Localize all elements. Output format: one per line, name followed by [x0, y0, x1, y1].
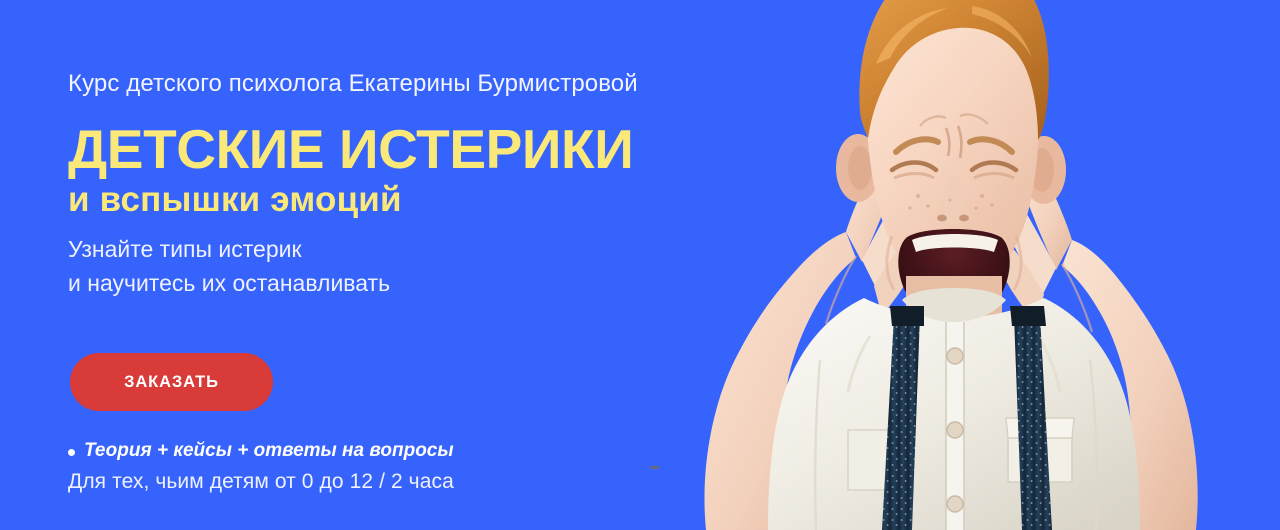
- features-note-label: Теория + кейсы + ответы на вопросы: [84, 440, 454, 462]
- lede-paragraph: Узнайте типы истерик и научитесь их оста…: [68, 232, 390, 300]
- page-title: ДЕТСКИЕ ИСТЕРИКИ: [68, 122, 633, 177]
- lede-line-1: Узнайте типы истерик: [68, 232, 390, 266]
- features-note: Теория + кейсы + ответы на вопросы: [68, 440, 454, 462]
- course-author-line: Курс детского психолога Екатерины Бурмис…: [68, 70, 638, 98]
- hero-photo: [620, 0, 1280, 530]
- bullet-dot-icon: [68, 449, 75, 456]
- order-button[interactable]: ЗАКАЗАТЬ: [70, 353, 273, 411]
- page-subtitle: и вспышки эмоций: [68, 182, 402, 217]
- audience-note: Для тех, чьим детям от 0 до 12 / 2 часа: [68, 470, 454, 494]
- promo-banner: Курс детского психолога Екатерины Бурмис…: [0, 0, 1280, 530]
- lede-line-2: и научитесь их останавливать: [68, 266, 390, 300]
- hero-content: Курс детского психолога Екатерины Бурмис…: [68, 0, 688, 530]
